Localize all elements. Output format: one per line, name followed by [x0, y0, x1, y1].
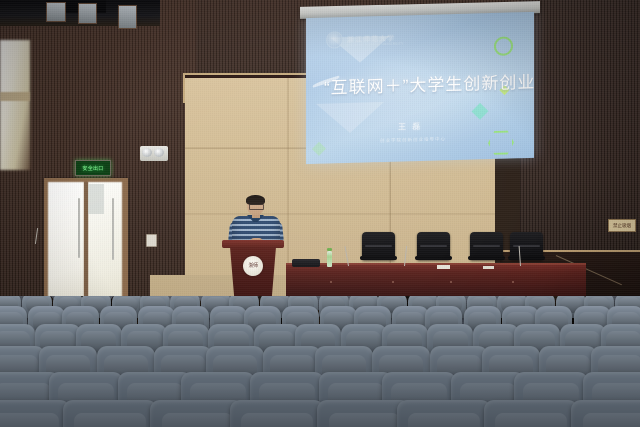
- audience-seat: [397, 400, 491, 427]
- chair-armrest: [360, 256, 397, 260]
- exit-sign-label: 安全出口: [82, 165, 103, 172]
- table-stud: [450, 281, 452, 283]
- emergency-light-bulb: [142, 148, 152, 157]
- table-stud: [330, 281, 332, 283]
- chair-armrest: [415, 256, 452, 260]
- chair-armrest: [468, 256, 505, 260]
- podium-emblem-label: 浙师: [248, 264, 257, 269]
- audience-seat: [63, 400, 157, 427]
- diamond-left-icon: [312, 142, 326, 156]
- projection-screen: 浙江师范大学 ZHEJIANG NORMAL UNIVERSITY “互联网＋”…: [306, 12, 534, 164]
- window-mullion: [0, 92, 30, 101]
- slide-presenter-name: 王 磊: [398, 121, 422, 133]
- chair-seam: [420, 245, 447, 247]
- emergency-exit-sign: 安全出口: [75, 160, 111, 176]
- podium-top: [222, 240, 284, 248]
- door-transom-window: [88, 184, 104, 214]
- papers-on-table: [483, 266, 494, 269]
- slide-title: “互联网＋”大学生创新创业: [324, 74, 524, 97]
- diamond-teal-icon: [472, 103, 489, 120]
- slide-organization: 创业学院创新创业指导中心: [380, 136, 446, 144]
- chair-armrest: [508, 256, 545, 260]
- door-handle[interactable]: [78, 198, 80, 258]
- emergency-light-bulb: [154, 148, 164, 157]
- audience-seat: [571, 400, 640, 427]
- audience-seat: [0, 400, 70, 427]
- hexagon-outline-icon: [488, 130, 514, 155]
- chair-seam: [513, 245, 540, 247]
- wall-plaque: 禁止吸烟: [608, 219, 636, 232]
- laptop-on-table: [292, 259, 320, 267]
- door-handle[interactable]: [112, 198, 114, 260]
- papers-on-table: [437, 265, 450, 269]
- table-stud: [392, 281, 394, 283]
- university-emblem-icon: [326, 31, 343, 48]
- wall-plaque-label: 禁止吸烟: [613, 223, 631, 229]
- lecture-hall-photo: 安全出口 禁止吸烟 浙江师范大学 ZHEJIANG NORMAL UNIVERS…: [0, 0, 640, 427]
- clerestory-window: [78, 3, 97, 24]
- circle-outline-icon: [494, 36, 513, 56]
- left-window-light: [0, 40, 30, 170]
- podium-emblem: 浙师: [243, 256, 263, 276]
- table-stud: [512, 281, 514, 283]
- audience-seat: [484, 400, 578, 427]
- chair-seam: [473, 245, 500, 247]
- audience-area: [0, 296, 640, 427]
- glasses-icon: [249, 204, 264, 210]
- clerestory-window: [118, 5, 137, 29]
- audience-seat: [230, 400, 324, 427]
- triangle-outline-bottom-icon: [316, 102, 384, 134]
- light-switch[interactable]: [146, 234, 157, 247]
- water-bottle: [327, 251, 332, 267]
- clerestory-window: [46, 2, 66, 22]
- chair-seam: [365, 245, 392, 247]
